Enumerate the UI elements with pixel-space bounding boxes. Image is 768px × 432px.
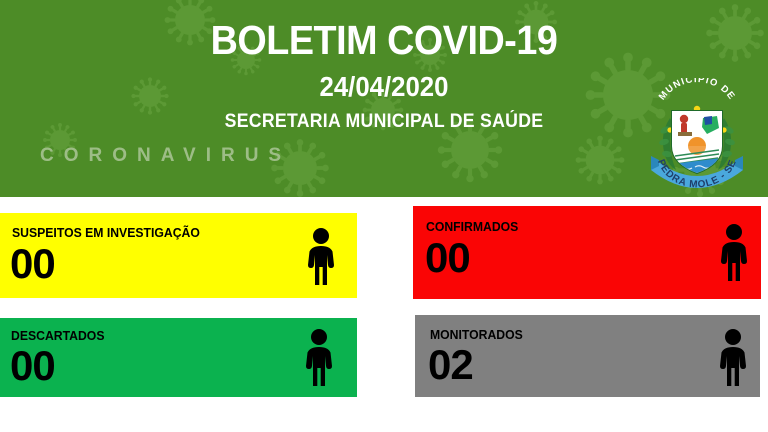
stat-value-confirmados: 00 (425, 237, 470, 279)
stat-value-suspeitos: 00 (10, 243, 55, 285)
page-title: BOLETIM COVID-19 (31, 20, 738, 61)
person-icon (298, 327, 340, 387)
issuing-authority: SECRETARIA MUNICIPAL DE SAÚDE (27, 112, 741, 131)
header-banner: BOLETIM COVID-19 24/04/2020 SECRETARIA M… (0, 0, 768, 197)
covid-bulletin-infographic: BOLETIM COVID-19 24/04/2020 SECRETARIA M… (0, 0, 768, 432)
stat-panel-suspeitos: SUSPEITOS EM INVESTIGAÇÃO 00 (0, 213, 357, 298)
bulletin-date: 24/04/2020 (31, 73, 738, 101)
person-icon (300, 227, 342, 285)
stat-label-descartados: DESCARTADOS (11, 329, 104, 342)
stat-panel-confirmados: CONFIRMADOS 00 (413, 206, 761, 299)
stat-panel-monitorados: MONITORADOS 02 (415, 315, 760, 397)
coronavirus-watermark-text: CORONAVIRUS (40, 146, 291, 165)
svg-text:MUNICIPIO DE: MUNICIPIO DE (657, 78, 738, 102)
stat-value-descartados: 00 (10, 345, 55, 387)
stat-label-monitorados: MONITORADOS (430, 328, 523, 341)
stat-label-suspeitos: SUSPEITOS EM INVESTIGAÇÃO (12, 226, 200, 239)
person-icon (713, 222, 755, 282)
stat-value-monitorados: 02 (428, 344, 473, 386)
crest-top-label: MUNICIPIO DE (657, 78, 738, 102)
coat-of-arms-icon: MUNICIPIO DE PEDRA MOLE - SE (645, 78, 749, 190)
stat-label-confirmados: CONFIRMADOS (426, 220, 518, 233)
stat-panel-descartados: DESCARTADOS 00 (0, 318, 357, 397)
person-icon (712, 326, 754, 388)
